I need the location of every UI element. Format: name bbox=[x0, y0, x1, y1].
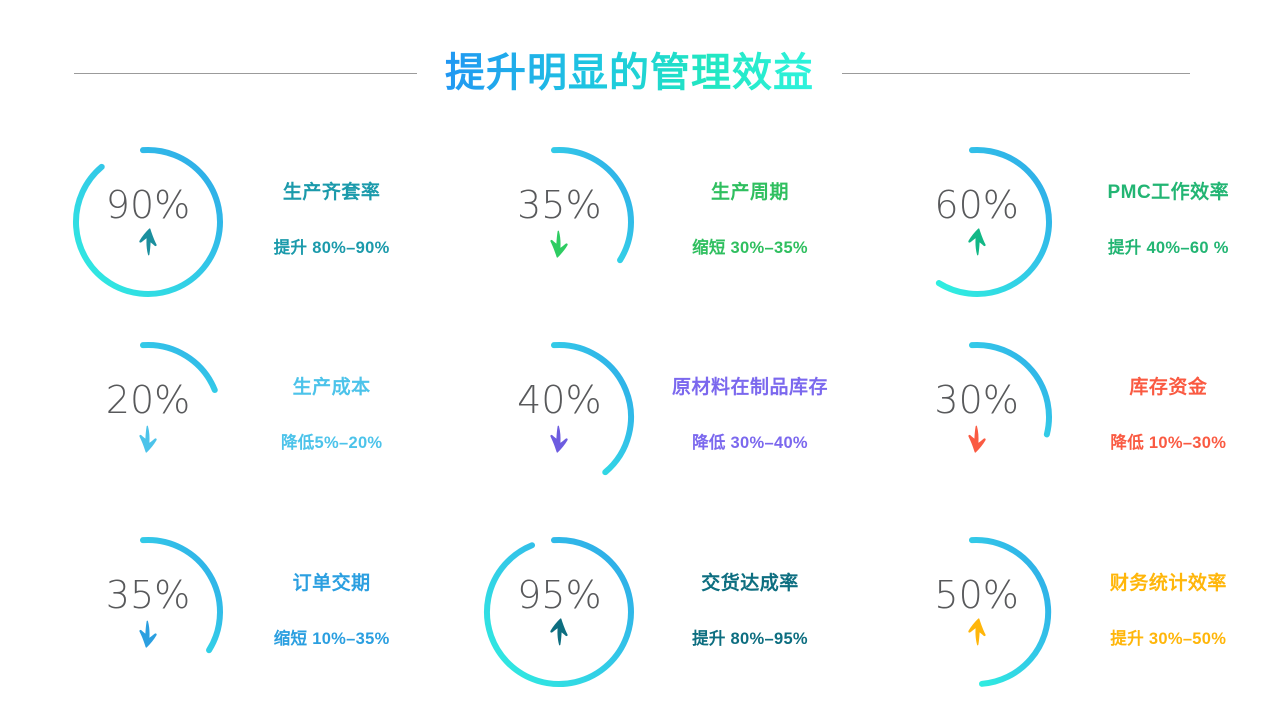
arrow-down-icon bbox=[135, 618, 161, 648]
metric-card: 30% 库存资金 降低 10%–30% bbox=[843, 319, 1264, 514]
progress-ring: 35% bbox=[469, 132, 649, 312]
metric-value: 50% bbox=[934, 576, 1018, 614]
metric-card: 35% 订单交期 缩短 10%–35% bbox=[0, 515, 421, 710]
metric-title: PMC工作效率 bbox=[1107, 177, 1229, 204]
progress-ring-center: 60% bbox=[887, 132, 1067, 312]
metric-text: 原材料在制品库存 降低 30%–40% bbox=[649, 372, 842, 453]
metric-card: 50% 财务统计效率 提升 30%–50% bbox=[843, 515, 1264, 710]
arrow-up-icon bbox=[964, 228, 990, 258]
metric-text: 库存资金 降低 10%–30% bbox=[1067, 372, 1264, 453]
metric-title: 原材料在制品库存 bbox=[672, 372, 828, 399]
arrow-down-icon bbox=[135, 423, 161, 453]
progress-ring-center: 50% bbox=[887, 522, 1067, 702]
metric-text: 财务统计效率 提升 30%–50% bbox=[1067, 568, 1264, 649]
metric-value: 40% bbox=[517, 381, 601, 419]
metric-subtitle: 提升 40%–60 % bbox=[1108, 234, 1229, 258]
page-title: 提升明显的管理效益 bbox=[443, 49, 816, 97]
progress-ring: 20% bbox=[58, 327, 238, 507]
progress-ring-center: 35% bbox=[58, 522, 238, 702]
metric-card: 20% 生产成本 降低5%–20% bbox=[0, 319, 421, 514]
metric-text: 生产齐套率 提升 80%–90% bbox=[238, 177, 421, 258]
metric-title: 交货达成率 bbox=[701, 568, 799, 595]
arrow-down-icon bbox=[546, 423, 572, 453]
header-rule-left bbox=[74, 73, 417, 74]
progress-ring-center: 40% bbox=[469, 327, 649, 507]
metric-title: 库存资金 bbox=[1129, 372, 1207, 399]
progress-ring-center: 95% bbox=[469, 522, 649, 702]
page-header: 提升明显的管理效益 bbox=[0, 42, 1264, 104]
progress-ring: 90% bbox=[58, 132, 238, 312]
metric-card: 60% PMC工作效率 提升 40%–60 % bbox=[843, 124, 1264, 319]
arrow-up-icon bbox=[964, 618, 990, 648]
metric-card: 95% 交货达成率 提升 80%–95% bbox=[421, 515, 842, 710]
metric-subtitle: 提升 80%–90% bbox=[274, 234, 390, 258]
metric-title: 生产周期 bbox=[711, 177, 789, 204]
metric-subtitle: 缩短 30%–35% bbox=[692, 234, 808, 258]
metric-subtitle: 降低5%–20% bbox=[281, 429, 382, 453]
metric-card: 90% 生产齐套率 提升 80%–90% bbox=[0, 124, 421, 319]
metric-text: 生产成本 降低5%–20% bbox=[238, 372, 421, 453]
progress-ring: 50% bbox=[887, 522, 1067, 702]
arrow-down-icon bbox=[964, 423, 990, 453]
metric-subtitle: 提升 30%–50% bbox=[1110, 625, 1226, 649]
arrow-up-icon bbox=[546, 618, 572, 648]
metric-value: 60% bbox=[934, 186, 1018, 224]
metric-subtitle: 降低 10%–30% bbox=[1110, 429, 1226, 453]
metric-title: 财务统计效率 bbox=[1110, 568, 1227, 595]
metric-text: PMC工作效率 提升 40%–60 % bbox=[1067, 177, 1264, 258]
metrics-grid: 90% 生产齐套率 提升 80%–90% bbox=[0, 124, 1264, 710]
metric-text: 生产周期 缩短 30%–35% bbox=[649, 177, 842, 258]
metric-text: 交货达成率 提升 80%–95% bbox=[649, 568, 842, 649]
metric-value: 20% bbox=[106, 381, 190, 419]
metric-subtitle: 提升 80%–95% bbox=[692, 625, 808, 649]
progress-ring-center: 90% bbox=[58, 132, 238, 312]
metric-text: 订单交期 缩短 10%–35% bbox=[238, 568, 421, 649]
header-rule-right bbox=[842, 73, 1190, 74]
metric-value: 35% bbox=[106, 576, 190, 614]
metric-subtitle: 降低 30%–40% bbox=[692, 429, 808, 453]
progress-ring: 30% bbox=[887, 327, 1067, 507]
arrow-up-icon bbox=[135, 228, 161, 258]
metric-value: 30% bbox=[934, 381, 1018, 419]
metric-value: 35% bbox=[517, 186, 601, 224]
metric-title: 生产成本 bbox=[293, 372, 371, 399]
progress-ring-center: 30% bbox=[887, 327, 1067, 507]
metric-card: 35% 生产周期 缩短 30%–35% bbox=[421, 124, 842, 319]
metric-card: 40% 原材料在制品库存 降低 30%–40% bbox=[421, 319, 842, 514]
progress-ring: 60% bbox=[887, 132, 1067, 312]
progress-ring-center: 20% bbox=[58, 327, 238, 507]
metric-value: 95% bbox=[517, 576, 601, 614]
metric-title: 订单交期 bbox=[293, 568, 371, 595]
progress-ring: 40% bbox=[469, 327, 649, 507]
progress-ring: 35% bbox=[58, 522, 238, 702]
metric-value: 90% bbox=[106, 186, 190, 224]
metric-subtitle: 缩短 10%–35% bbox=[274, 625, 390, 649]
progress-ring: 95% bbox=[469, 522, 649, 702]
progress-ring-center: 35% bbox=[469, 132, 649, 312]
arrow-down-icon bbox=[546, 228, 572, 258]
metric-title: 生产齐套率 bbox=[283, 177, 381, 204]
